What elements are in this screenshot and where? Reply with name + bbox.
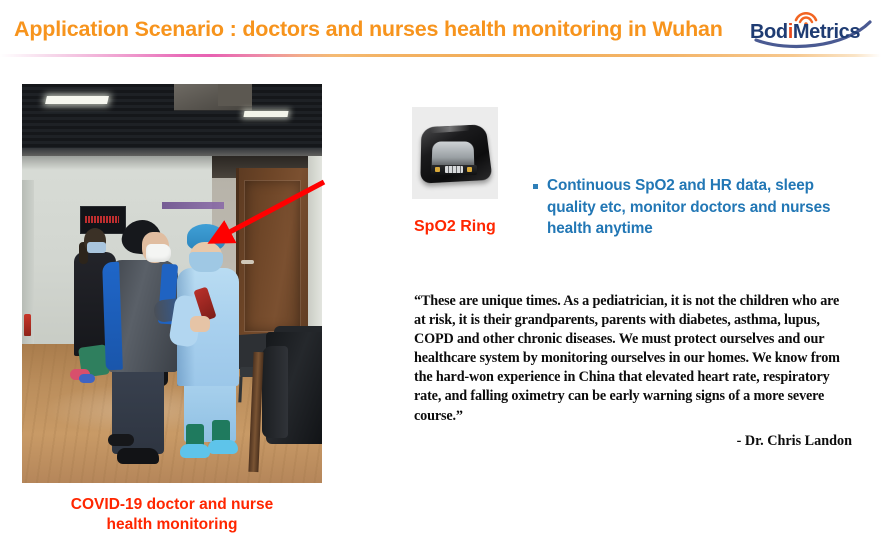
photo-nurse-mask (189, 252, 223, 272)
quote-attribution: - Dr. Chris Landon (414, 433, 852, 450)
photo-door-handle (241, 260, 254, 264)
spo2-ring-image (412, 107, 498, 199)
photo-nurse-hand (190, 316, 210, 332)
photo-sofa-arm (262, 346, 288, 438)
square-bullet-icon (533, 184, 538, 189)
spo2-ring-label: SpO2 Ring (414, 218, 496, 236)
logo-text-part2: Metrics (793, 21, 860, 43)
photo-doctor-mask (146, 244, 171, 262)
photo-wall-display (80, 206, 126, 234)
photo-caption-line-1: COVID-19 doctor and nurse (71, 496, 273, 513)
photo-ceiling-vent-2 (218, 84, 252, 106)
photo-door-panel (244, 180, 301, 332)
photo-ceiling (22, 84, 322, 156)
scenario-photo (22, 84, 322, 483)
photo-nurse-shoe-cover-2 (208, 440, 238, 454)
photo-caption-line-2: health monitoring (107, 516, 238, 533)
ring-contact-left (435, 167, 440, 172)
feature-bullet-text: Continuous SpO2 and HR data, sleep quali… (547, 175, 863, 240)
photo-nurse-shoe-cover-1 (180, 444, 210, 458)
photo-wall-display-led (85, 216, 119, 223)
photo-purple-strip (162, 202, 224, 209)
photo-background-person-mask (87, 242, 106, 253)
ring-contact-right (467, 167, 472, 172)
header-divider (0, 54, 881, 57)
logo-wordmark: BodiMetrics (750, 21, 860, 44)
photo-doctor-shoe-2 (108, 434, 134, 446)
photo-ceiling-light-1 (45, 96, 109, 104)
photo-doctor-shoe-1 (117, 448, 159, 464)
photo-background-person-shoe-2 (79, 374, 95, 383)
photo-caption: COVID-19 doctor and nurse health monitor… (22, 495, 322, 535)
feature-bullet: Continuous SpO2 and HR data, sleep quali… (533, 175, 863, 240)
logo-text-part1: Bod (750, 21, 788, 43)
ring-sensor-array (445, 166, 463, 173)
photo-fire-extinguisher (24, 314, 31, 336)
photo-ceiling-light-2 (243, 111, 288, 117)
bodimetrics-logo: BodiMetrics (748, 6, 876, 52)
quote-body: “These are unique times. As a pediatrici… (414, 292, 852, 426)
page-title: Application Scenario : doctors and nurse… (14, 17, 723, 42)
